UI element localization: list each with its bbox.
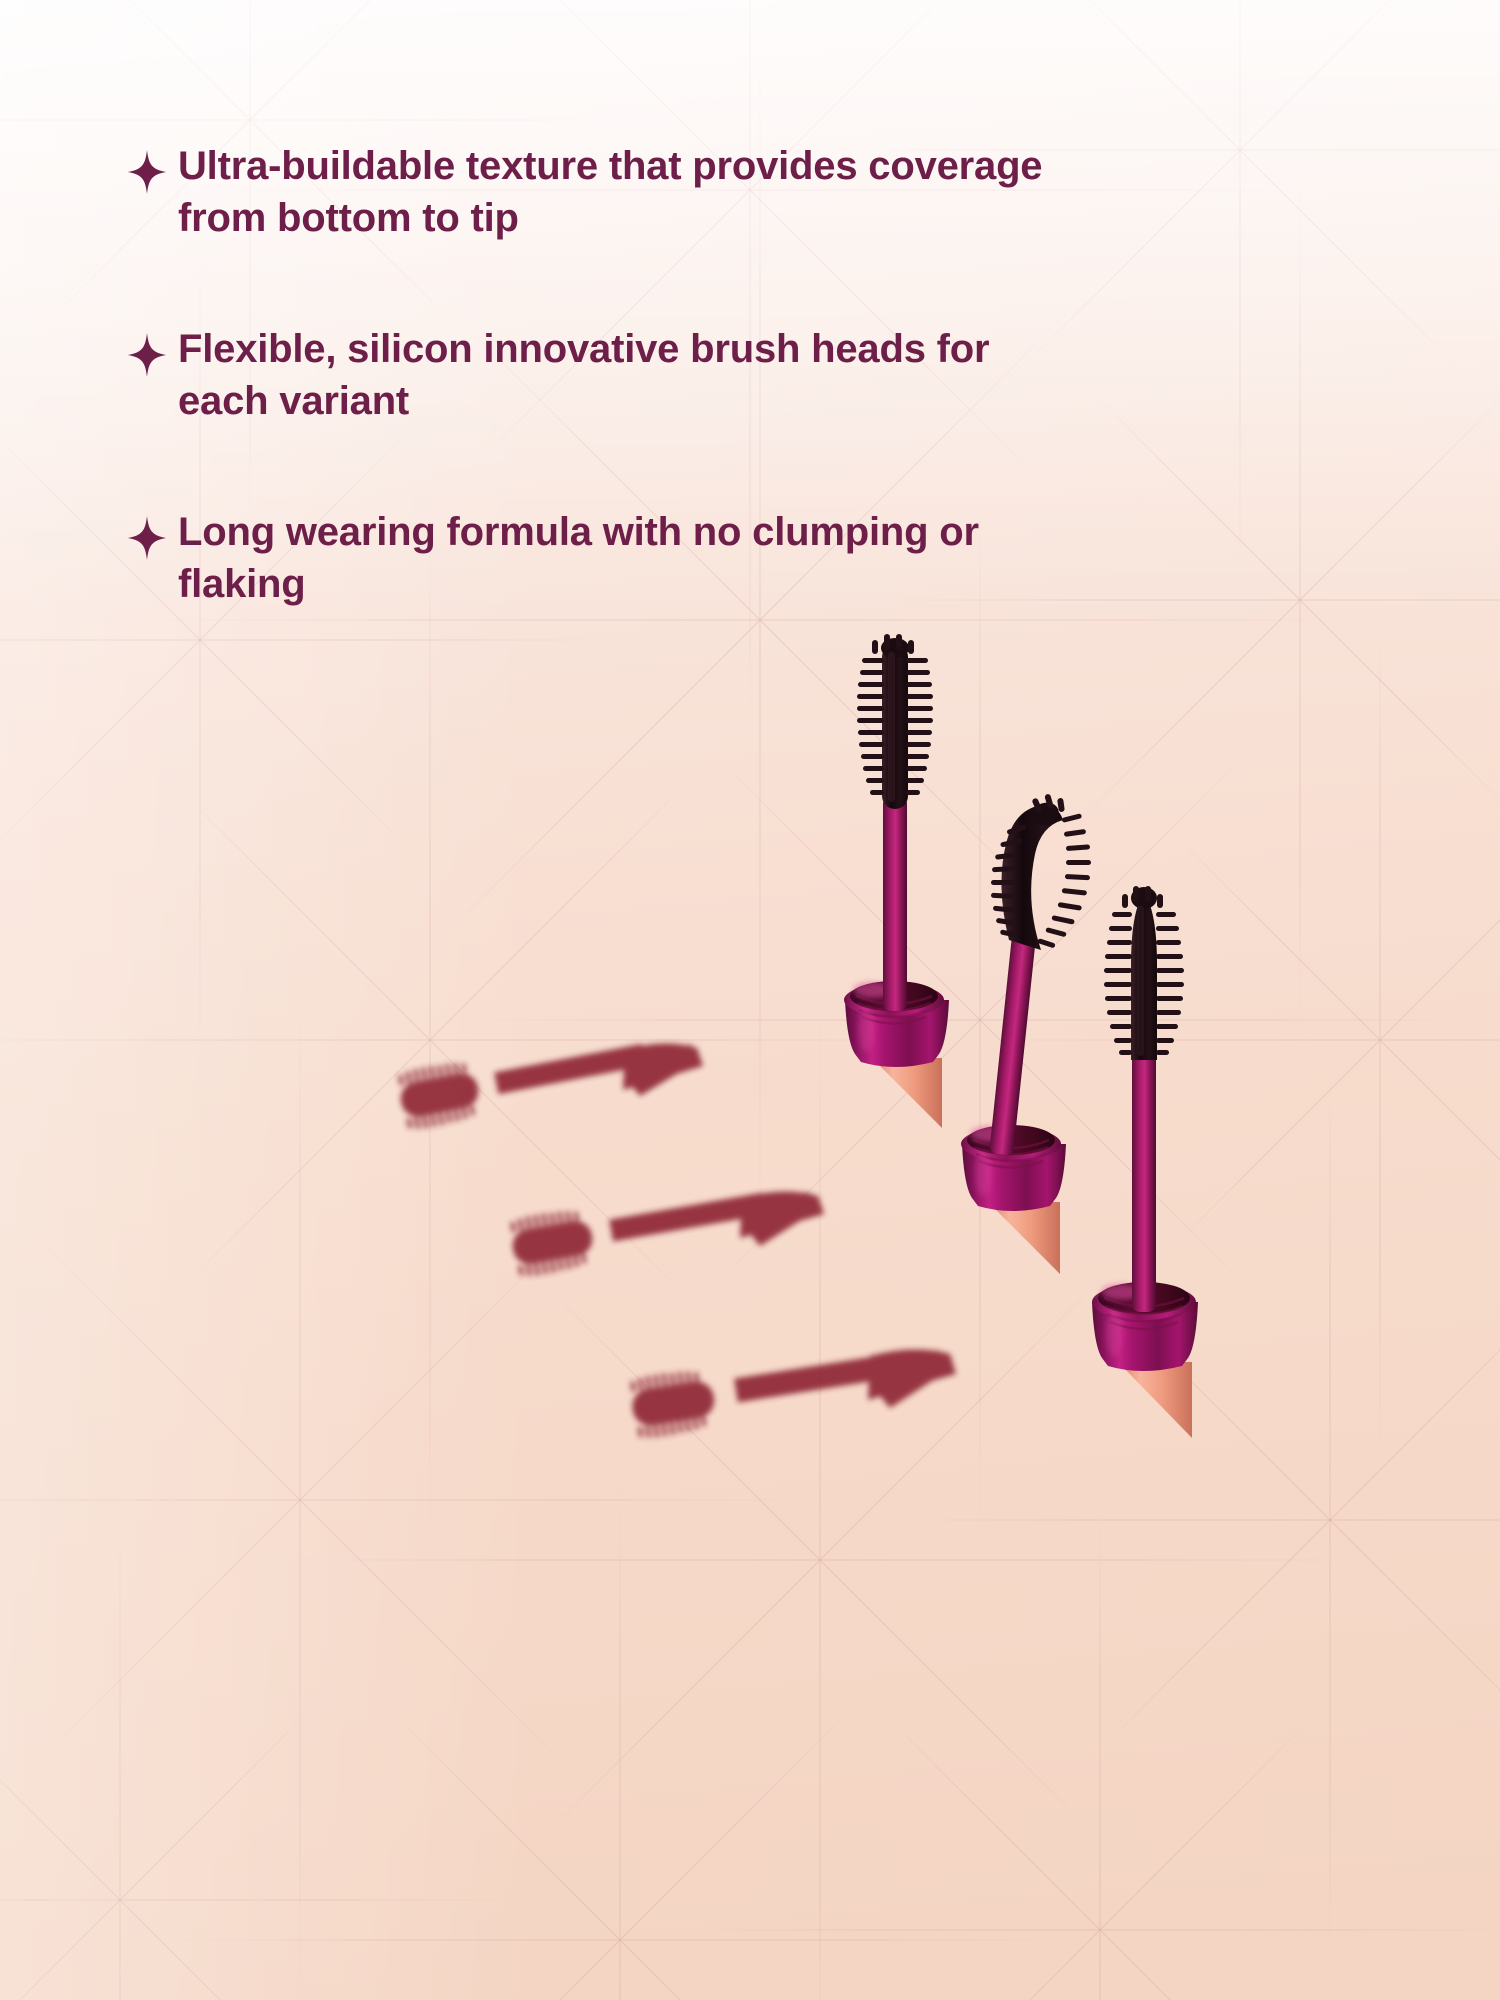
brush-tapered bbox=[1104, 886, 1184, 1060]
mascara-3 bbox=[1092, 886, 1198, 1438]
four-point-sparkle-icon bbox=[126, 149, 168, 195]
starburst-motif bbox=[299, 1499, 301, 1501]
mascara-2 bbox=[961, 793, 1091, 1274]
slide-canvas: Ultra-buildable texture that provides co… bbox=[0, 0, 1500, 2000]
starburst-motif bbox=[1299, 599, 1301, 601]
brush-curved bbox=[991, 793, 1091, 950]
feature-text-1: Ultra-buildable texture that provides co… bbox=[178, 140, 1083, 244]
starburst-motif bbox=[1099, 1929, 1101, 1931]
product-shadows bbox=[396, 1043, 956, 1440]
starburst-motif bbox=[1379, 1039, 1381, 1041]
starburst-motif bbox=[249, 119, 251, 121]
starburst-motif bbox=[1329, 1519, 1331, 1521]
starburst-motif bbox=[429, 1039, 431, 1041]
feature-item-2: Flexible, silicon innovative brush heads… bbox=[126, 323, 1106, 427]
starburst-motif bbox=[119, 1899, 121, 1901]
mascara-1 bbox=[844, 634, 949, 1128]
starburst-motif bbox=[1239, 149, 1241, 151]
starburst-motif bbox=[819, 1559, 821, 1561]
feature-text-3: Long wearing formula with no clumping or… bbox=[178, 506, 1083, 610]
feature-item-3: Long wearing formula with no clumping or… bbox=[126, 506, 1106, 610]
four-point-sparkle-icon bbox=[126, 332, 168, 378]
starburst-motif bbox=[979, 1019, 981, 1021]
starburst-motif bbox=[619, 1939, 621, 1941]
four-point-sparkle-icon bbox=[126, 515, 168, 561]
feature-item-1: Ultra-buildable texture that provides co… bbox=[126, 140, 1106, 244]
feature-list: Ultra-buildable texture that provides co… bbox=[126, 140, 1106, 689]
feature-text-2: Flexible, silicon innovative brush heads… bbox=[178, 323, 1083, 427]
